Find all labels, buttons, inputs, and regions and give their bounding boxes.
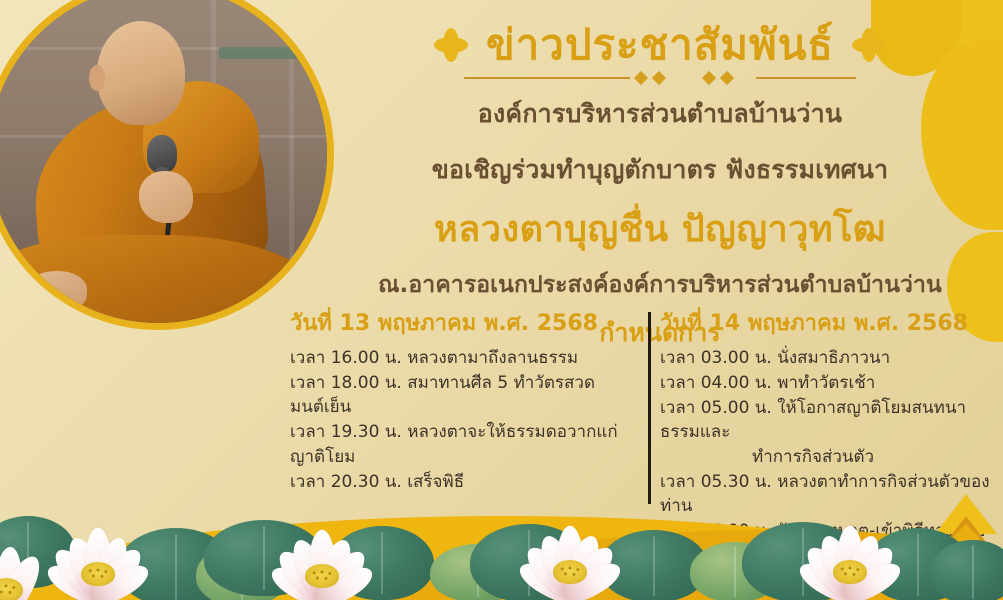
monk-photo bbox=[0, 0, 334, 330]
schedule-item-time: เวลา 16.00 น. bbox=[290, 348, 402, 368]
lotus-decorative-border bbox=[0, 482, 1003, 600]
lotus-flower bbox=[0, 522, 66, 600]
organization-name: องค์การบริหารส่วนตำบลบ้านว่าน bbox=[330, 94, 990, 134]
monk-name: หลวงตาบุญชื่น ปัญญาวุทโฒ bbox=[330, 200, 990, 257]
schedule-item-time: เวลา 03.00 น. bbox=[660, 348, 772, 368]
schedule-item-time: เวลา 05.00 น. bbox=[660, 398, 772, 418]
schedule-list-day1: เวลา 16.00 น. หลวงตามาถึงลานธรรม เวลา 18… bbox=[290, 346, 628, 494]
schedule-item-time: เวลา 18.00 น. bbox=[290, 373, 402, 393]
title-row: ข่าวประชาสัมพันธ์ bbox=[330, 22, 990, 68]
schedule-item-text: หลวงตามาถึงลานธรรม bbox=[407, 348, 578, 368]
schedule-item: เวลา 18.00 น. สมาทานศีล 5 ทำวัตรสวดมนต์เ… bbox=[290, 371, 628, 419]
schedule-item: เวลา 04.00 น. พาทำวัตรเช้า bbox=[660, 371, 990, 395]
lotus-flower bbox=[790, 504, 910, 600]
monk-hand-resting bbox=[25, 271, 87, 311]
announcement-poster: ข่าวประชาสัมพันธ์ องค์การบริหารส่วนตำบลบ… bbox=[0, 0, 1003, 600]
lotus-flower bbox=[262, 508, 382, 600]
schedule-item-time: เวลา 04.00 น. bbox=[660, 373, 772, 393]
venue-line: ณ.อาคารอเนกประสงค์องค์การบริหารส่วนตำบลบ… bbox=[330, 267, 990, 303]
lotus-leaf bbox=[930, 540, 1003, 600]
title-divider-ornament bbox=[464, 72, 856, 84]
monk-photo-image bbox=[0, 0, 327, 323]
poster-header: ข่าวประชาสัมพันธ์ องค์การบริหารส่วนตำบลบ… bbox=[330, 22, 990, 353]
page-title: ข่าวประชาสัมพันธ์ bbox=[486, 22, 834, 68]
schedule-item-text: พาทำวัตรเช้า bbox=[777, 373, 875, 393]
schedule-item: เวลา 19.30 น. หลวงตาจะให้ธรรมดอวากแก่ญาต… bbox=[290, 420, 628, 468]
quatrefoil-ornament-left-icon bbox=[434, 28, 468, 62]
schedule-item-text: นั่งสมาธิภาวนา bbox=[777, 348, 890, 368]
monk-head bbox=[97, 21, 185, 125]
schedule-date-day1: วันที่ 13 พฤษภาคม พ.ศ. 2568 bbox=[290, 305, 628, 340]
quatrefoil-ornament-right-icon bbox=[852, 28, 886, 62]
wall-green-strip bbox=[219, 47, 327, 59]
invitation-line: ขอเชิญร่วมทำบุญตักบาตร ฟังธรรมเทศนา bbox=[330, 150, 990, 190]
schedule-item: เวลา 16.00 น. หลวงตามาถึงลานธรรม bbox=[290, 346, 628, 370]
lotus-flower bbox=[510, 504, 630, 600]
schedule-item-continuation: ทำการกิจส่วนตัว bbox=[660, 445, 990, 469]
schedule-item: เวลา 03.00 น. นั่งสมาธิภาวนา bbox=[660, 346, 990, 370]
schedule-item-time: เวลา 19.30 น. bbox=[290, 422, 402, 442]
column-divider bbox=[648, 312, 651, 504]
schedule-item: เวลา 05.00 น. ให้โอกาสญาติโยมสนทนาธรรมแล… bbox=[660, 396, 990, 468]
monk-ear bbox=[89, 65, 105, 91]
monk-hand bbox=[139, 171, 193, 223]
schedule-date-day2: วันที่ 14 พฤษภาคม พ.ศ. 2568 bbox=[660, 305, 990, 340]
